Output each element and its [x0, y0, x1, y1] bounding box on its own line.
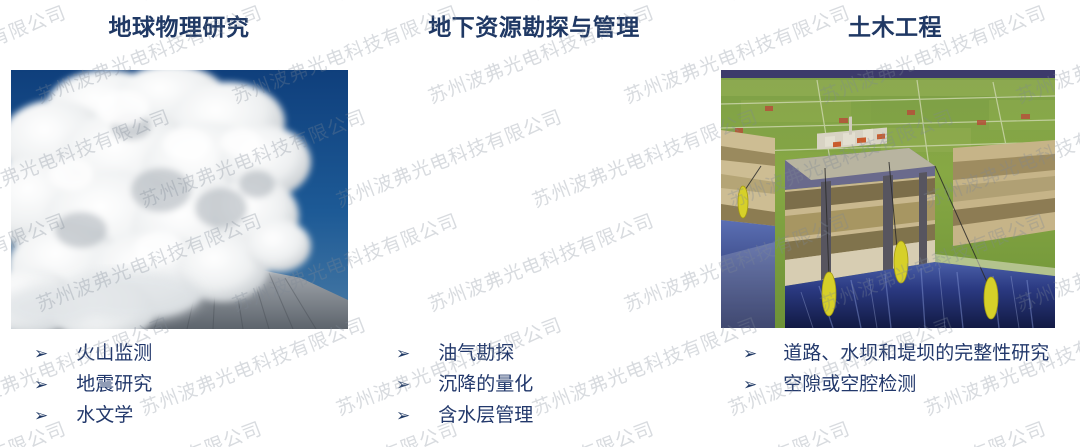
bullet-arrow-icon: ➢	[34, 338, 48, 369]
list-item[interactable]: ➢ 沉降的量化	[358, 369, 710, 400]
list-item-label: 火山监测	[76, 338, 358, 369]
list-item-label: 油气勘探	[438, 338, 710, 369]
column-title-1: 地球物理研究	[0, 12, 358, 42]
list-item[interactable]: ➢ 火山监测	[0, 338, 358, 369]
list-item[interactable]: ➢ 油气勘探	[358, 338, 710, 369]
column-title-2: 地下资源勘探与管理	[358, 12, 710, 42]
list-item-label: 道路、水坝和堤坝的完整性研究	[783, 338, 1080, 369]
bullet-list-2: ➢ 油气勘探 ➢ 沉降的量化 ➢ 含水层管理	[358, 338, 710, 431]
bullet-arrow-icon: ➢	[34, 400, 48, 431]
list-item[interactable]: ➢ 水文学	[0, 400, 358, 431]
list-item-label: 水文学	[76, 400, 358, 431]
volcano-eruption-photo	[11, 70, 348, 329]
bullet-list-1: ➢ 火山监测 ➢ 地震研究 ➢ 水文学	[0, 338, 358, 431]
column-civil-engineering: 土木工程	[710, 0, 1080, 447]
column-title-3: 土木工程	[710, 12, 1080, 42]
bullet-arrow-icon: ➢	[743, 338, 757, 369]
list-item[interactable]: ➢ 地震研究	[0, 369, 358, 400]
list-item-label: 空隙或空腔检测	[783, 369, 1080, 400]
bullet-list-3: ➢ 道路、水坝和堤坝的完整性研究 ➢ 空隙或空腔检测	[710, 338, 1080, 400]
bullet-arrow-icon: ➢	[396, 369, 410, 400]
column-subsurface-exploration: 地下资源勘探与管理	[358, 0, 710, 447]
slide-body: 地球物理研究	[0, 0, 1080, 447]
list-item-label: 沉降的量化	[438, 369, 710, 400]
list-item-label: 地震研究	[76, 369, 358, 400]
bullet-arrow-icon: ➢	[396, 400, 410, 431]
list-item-label: 含水层管理	[438, 400, 710, 431]
bullet-arrow-icon: ➢	[743, 369, 757, 400]
bullet-arrow-icon: ➢	[34, 369, 48, 400]
list-item[interactable]: ➢ 含水层管理	[358, 400, 710, 431]
list-item[interactable]: ➢ 道路、水坝和堤坝的完整性研究	[710, 338, 1080, 369]
volcano-eruption-illustration	[11, 70, 348, 329]
bullet-arrow-icon: ➢	[396, 338, 410, 369]
list-item[interactable]: ➢ 空隙或空腔检测	[710, 369, 1080, 400]
column-geophysics-research: 地球物理研究	[0, 0, 358, 447]
